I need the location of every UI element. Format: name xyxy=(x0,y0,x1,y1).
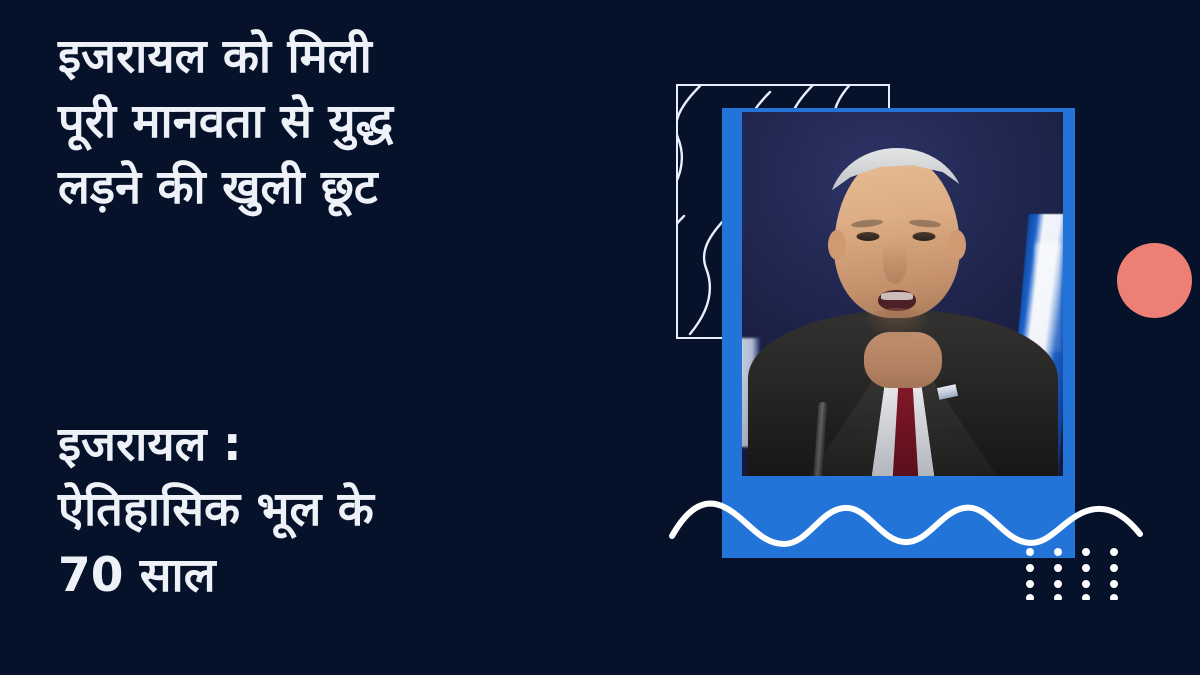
text-column: इजरायल को मिली पूरी मानवता से युद्ध लड़न… xyxy=(58,0,658,675)
news-photo xyxy=(742,112,1063,476)
subject-eye-right xyxy=(912,232,935,241)
subheadline: इजरायल : ऐतिहासिक भूल के 70 साल xyxy=(58,412,638,608)
subject-ear-right xyxy=(948,230,966,260)
israeli-flag-right-highlight xyxy=(1035,243,1061,352)
poster-canvas: इजरायल को मिली पूरी मानवता से युद्ध लड़न… xyxy=(0,0,1200,675)
decor-salmon-circle xyxy=(1117,243,1192,318)
subject-nose xyxy=(883,242,907,284)
subject-ear-left xyxy=(828,230,846,260)
subject-teeth xyxy=(881,292,913,300)
headline: इजरायल को मिली पूरी मानवता से युद्ध लड़न… xyxy=(58,24,638,220)
decor-dot-grid xyxy=(1024,546,1128,600)
subject-chin xyxy=(862,308,932,342)
subject-eye-left xyxy=(856,232,879,241)
